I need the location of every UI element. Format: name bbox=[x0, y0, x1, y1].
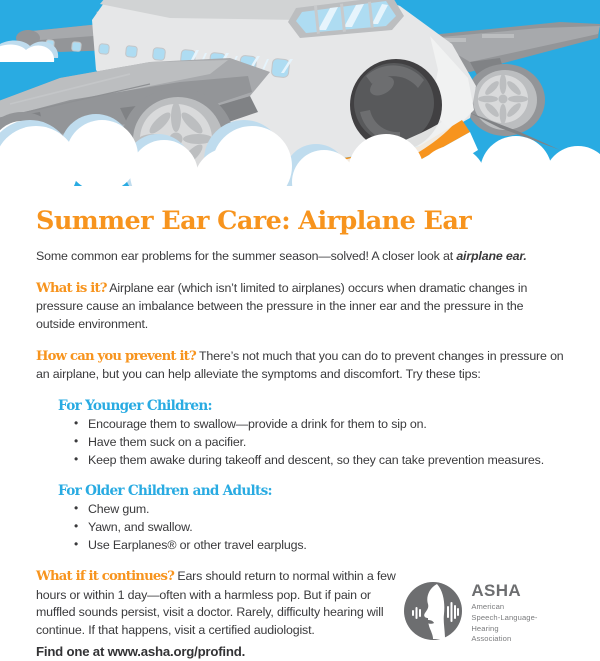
list-item: Encourage them to swallow—provide a drin… bbox=[88, 416, 564, 434]
airplane-in-clouds-illustration bbox=[0, 0, 600, 200]
lede-emphasis: airplane ear. bbox=[456, 249, 526, 263]
section-heading-how-prevent: How can you prevent it? bbox=[36, 349, 196, 364]
hero-illustration bbox=[0, 0, 600, 200]
list-item: Have them suck on a pacifier. bbox=[88, 434, 564, 452]
asha-name-line-3: Association bbox=[471, 634, 562, 645]
article-content: Summer Ear Care: Airplane Ear Some commo… bbox=[0, 200, 600, 661]
tip-list-younger-children: Encourage them to swallow—provide a drin… bbox=[36, 416, 564, 470]
section-heading-what-is-it: What is it? bbox=[36, 281, 107, 296]
tip-group-heading-younger-children: For Younger Children: bbox=[58, 398, 564, 414]
asha-profile-soundwave-logo-icon bbox=[404, 582, 462, 645]
section-how-prevent: How can you prevent it? There’s not much… bbox=[36, 348, 564, 384]
tip-group-heading-older-children-adults: For Older Children and Adults: bbox=[58, 483, 564, 499]
footer: What if it continues? Ears should return… bbox=[36, 568, 564, 661]
section-body-what-is-it: Airplane ear (which isn’t limited to air… bbox=[36, 281, 527, 331]
asha-name-line-2: Speech-Language-Hearing bbox=[471, 613, 562, 635]
list-item: Use Earplanes® or other travel earplugs. bbox=[88, 537, 564, 555]
section-heading-what-if-continues: What if it continues? bbox=[36, 569, 174, 584]
page-title: Summer Ear Care: Airplane Ear bbox=[36, 208, 564, 235]
list-item: Yawn, and swallow. bbox=[88, 519, 564, 537]
profind-link-line[interactable]: Find one at www.asha.org/profind. bbox=[36, 642, 404, 661]
section-what-is-it: What is it? Airplane ear (which isn’t li… bbox=[36, 280, 564, 334]
lede-text: Some common ear problems for the summer … bbox=[36, 249, 456, 263]
closing-block: What if it continues? Ears should return… bbox=[36, 568, 404, 661]
asha-logo: ASHA American Speech-Language-Hearing As… bbox=[404, 582, 562, 645]
tip-list-older-children-adults: Chew gum. Yawn, and swallow. Use Earplan… bbox=[36, 501, 564, 555]
asha-acronym: ASHA bbox=[471, 582, 562, 599]
list-item: Keep them awake during takeoff and desce… bbox=[88, 452, 564, 470]
tip-group-younger-children: For Younger Children: Encourage them to … bbox=[36, 398, 564, 470]
list-item: Chew gum. bbox=[88, 501, 564, 519]
asha-name-line-1: American bbox=[471, 602, 562, 613]
lede-paragraph: Some common ear problems for the summer … bbox=[36, 248, 564, 266]
asha-logo-wordmark: ASHA American Speech-Language-Hearing As… bbox=[471, 582, 562, 645]
tip-group-older-children-adults: For Older Children and Adults: Chew gum.… bbox=[36, 483, 564, 555]
section-what-if-continues: What if it continues? Ears should return… bbox=[36, 568, 404, 640]
